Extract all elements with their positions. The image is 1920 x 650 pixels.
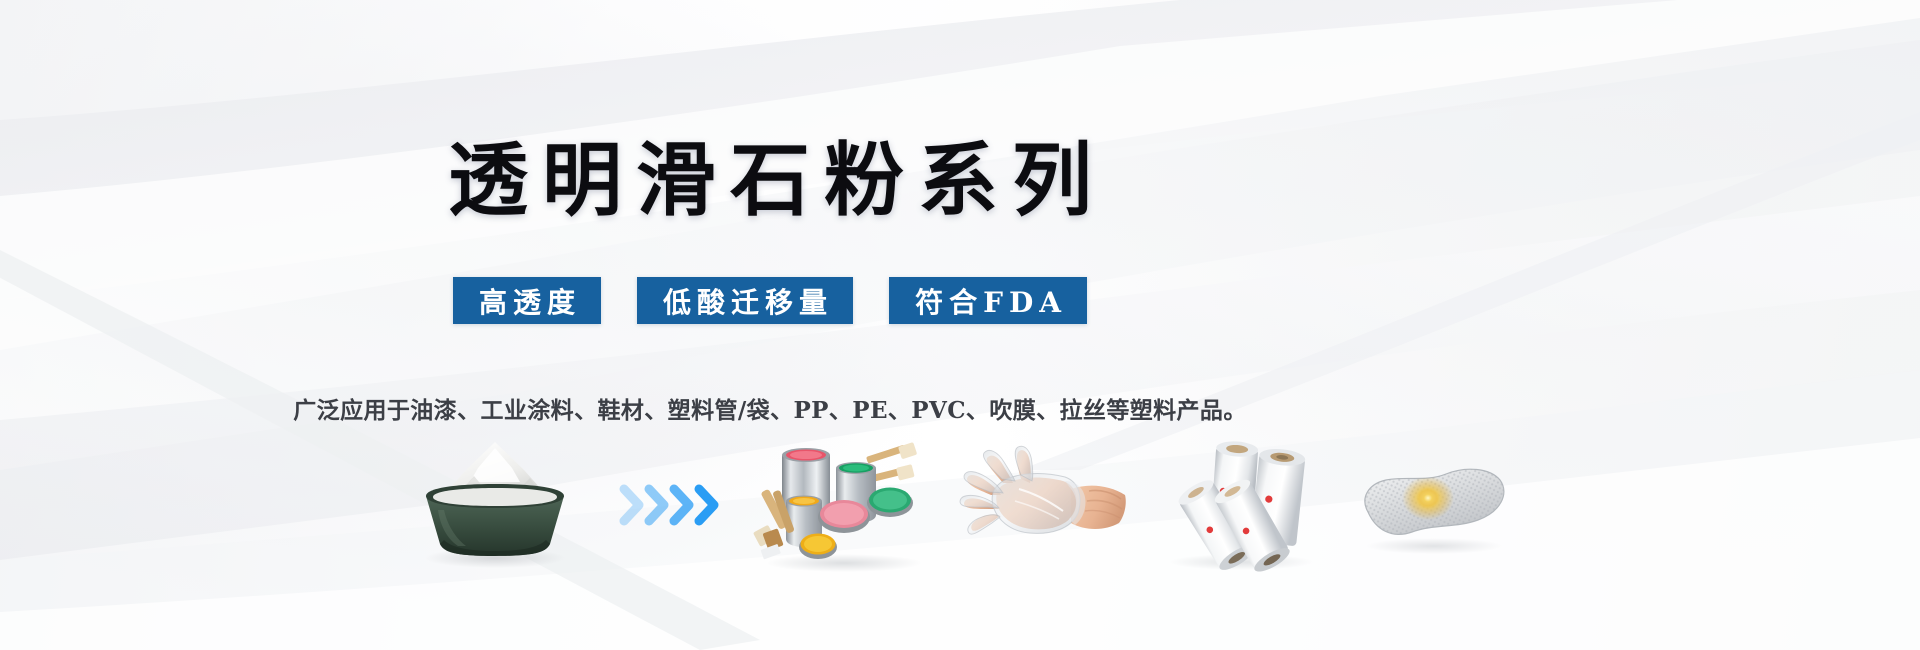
process-arrows-icon [618, 435, 728, 575]
product-banner: 透明滑石粉系列 高透度 低酸迁移量 符合FDA 广泛应用于油漆、工业涂料、鞋材、… [0, 0, 1920, 650]
shoe-sole-image [1350, 435, 1510, 575]
plastic-film-rolls-image [1157, 435, 1322, 575]
badge-low-acid-migration[interactable]: 低酸迁移量 [637, 277, 853, 324]
paint-cans-image [756, 435, 931, 575]
plastic-glove-hand-image [959, 435, 1129, 575]
product-image-strip [400, 430, 1510, 580]
badge-fda-compliant[interactable]: 符合FDA [889, 277, 1087, 324]
talc-powder-bowl-image [400, 435, 590, 575]
title-container: 透明滑石粉系列 [0, 86, 1540, 273]
application-description: 广泛应用于油漆、工业涂料、鞋材、塑料管/袋、PP、PE、PVC、吹膜、拉丝等塑料… [293, 391, 1246, 425]
badge-high-transparency[interactable]: 高透度 [453, 277, 601, 324]
feature-badge-list: 高透度 低酸迁移量 符合FDA [0, 277, 1540, 324]
page-title: 透明滑石粉系列 [434, 140, 1106, 220]
